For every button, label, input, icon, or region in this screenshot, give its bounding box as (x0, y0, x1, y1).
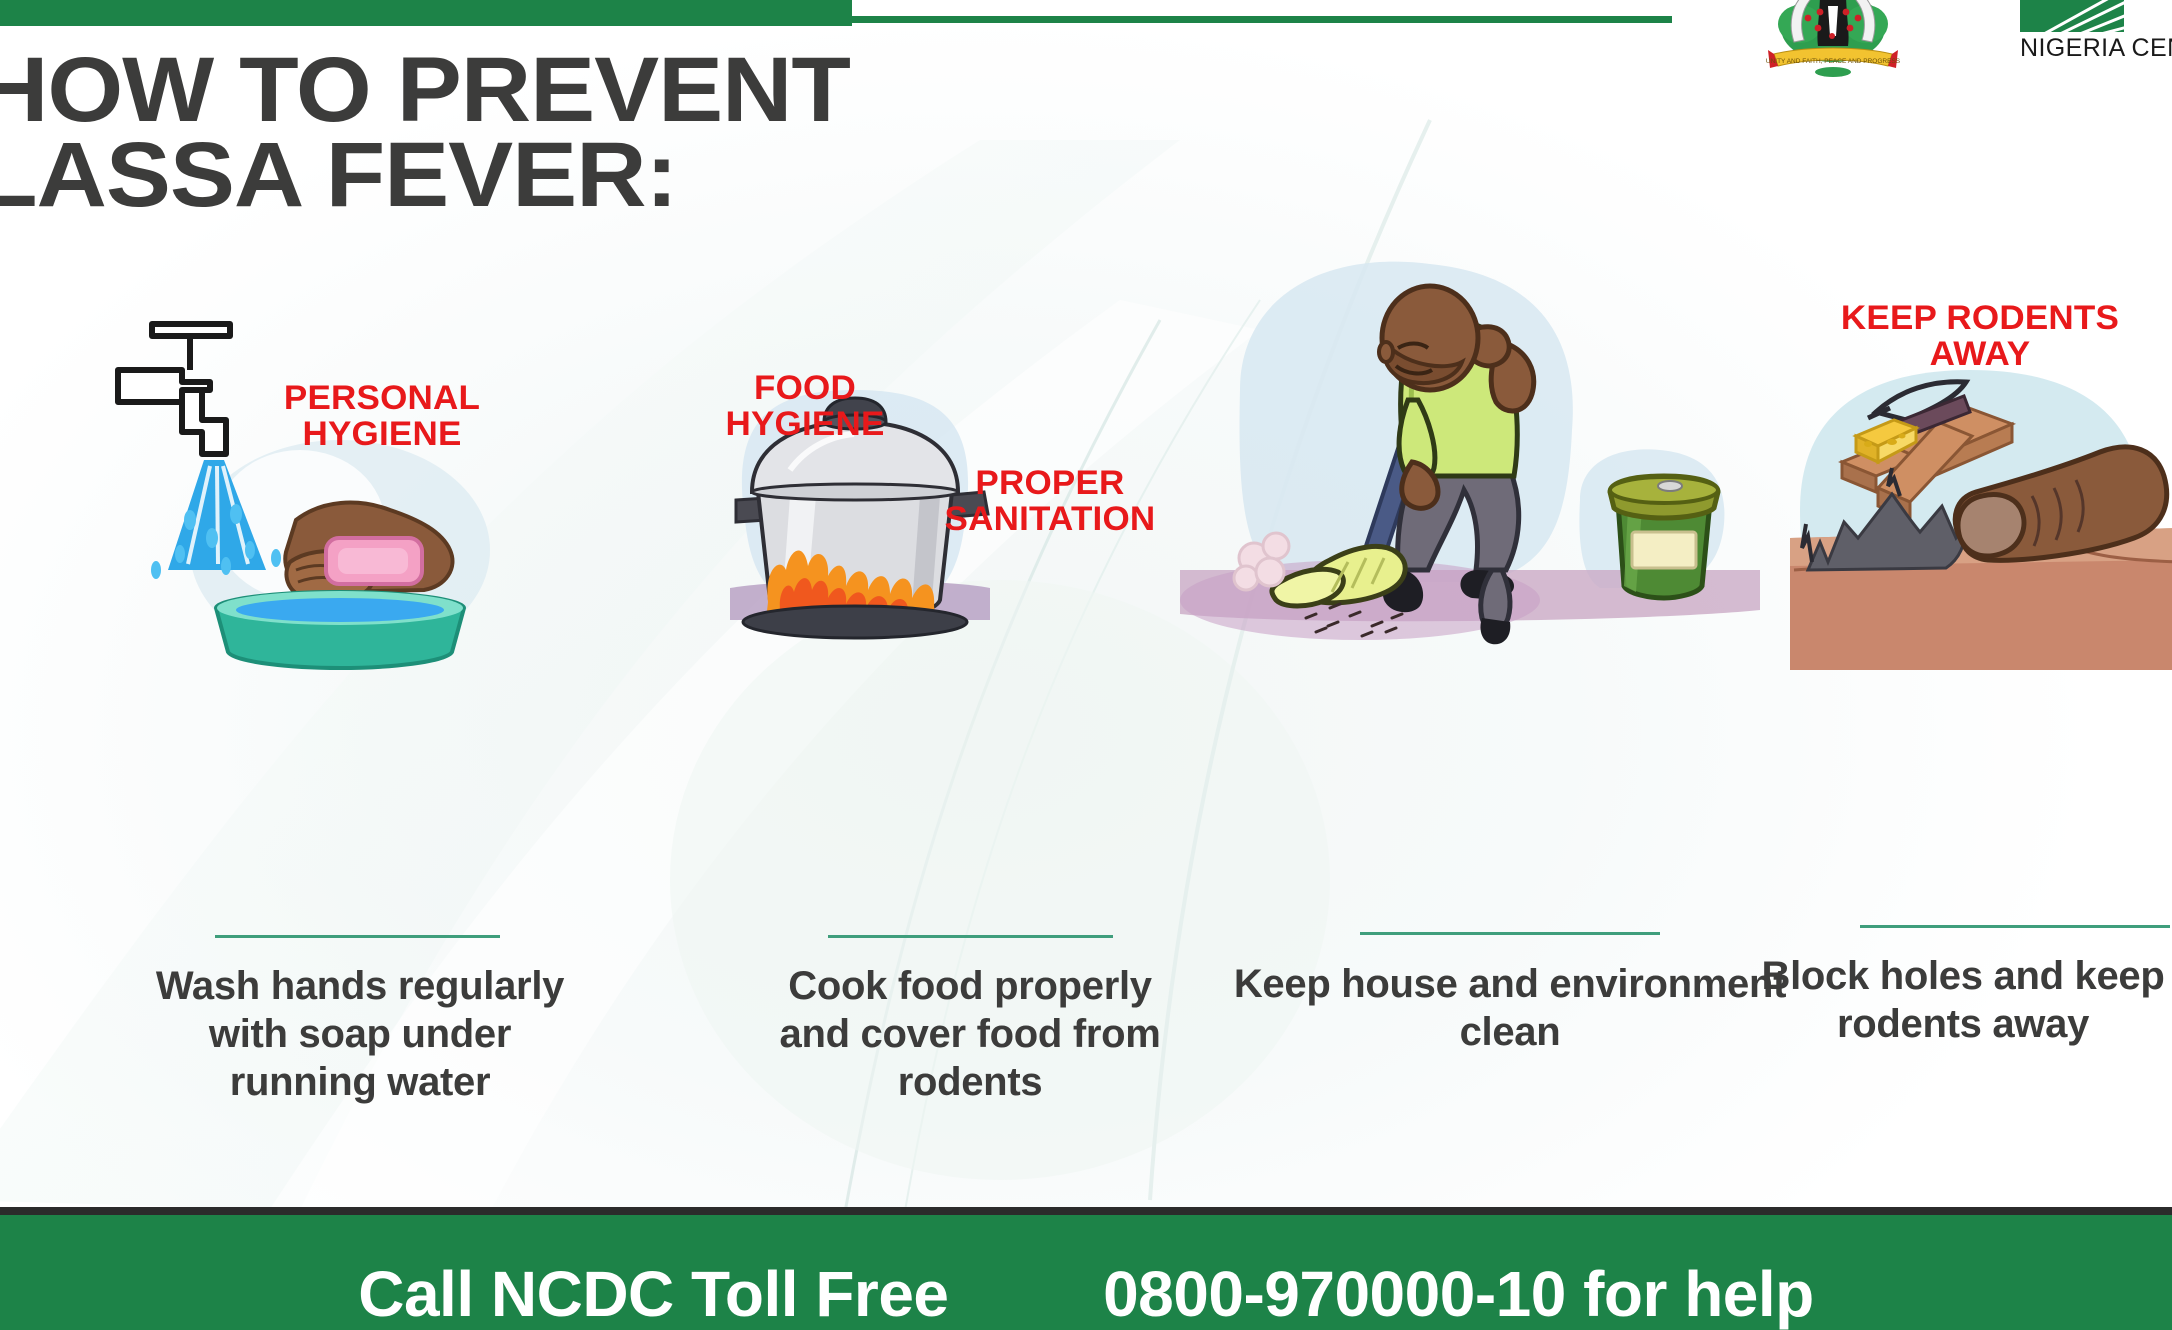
panel-1-caption: Wash hands regularly with soap under run… (150, 962, 570, 1106)
footer-call-text: Call NCDC Toll Free (358, 1258, 948, 1330)
footer-text: Call NCDC Toll Free 0800-970000-10 for h… (0, 1257, 2172, 1330)
top-bar-right-rule (852, 16, 1672, 23)
panel-3-label-line-2: SANITATION (945, 500, 1156, 538)
coat-of-arms-motto: UNITY AND FAITH, PEACE AND PROGRESS (1766, 58, 1901, 65)
panel-4-caption: Block holes and keep rodents away (1738, 952, 2172, 1048)
panel-3-caption: Keep house and environment clean (1220, 960, 1800, 1056)
ncdc-wordmark: NIGERIA CENTRE (2020, 34, 2172, 63)
handwashing-tap-icon (90, 270, 570, 670)
panel-keep-rodents-away: KEEP RODENTS AWAY Block holes and keep r… (1760, 270, 2172, 670)
top-bar-left-segment (0, 0, 852, 26)
panel-1-divider (215, 935, 500, 938)
panel-2-label: FOOD HYGIENE (584, 370, 1027, 442)
panel-3-label: PROPER SANITATION (844, 465, 1256, 537)
footer-bar: Call NCDC Toll Free 0800-970000-10 for h… (0, 1207, 2172, 1330)
panel-4-divider (1860, 925, 2170, 928)
panel-2-divider (828, 935, 1113, 938)
ncdc-logo: NIGERIA CENTRE (2020, 0, 2172, 60)
panel-3-label-line-1: PROPER (975, 464, 1124, 502)
panel-1-label-line-2: HYGIENE (302, 415, 461, 453)
panel-1-label: PERSONAL HYGIENE (248, 380, 516, 452)
panel-proper-sanitation: PROPER SANITATION Keep house and environ… (1180, 270, 1760, 690)
panel-2-label-line-1: FOOD (754, 369, 856, 407)
nigeria-coat-of-arms-icon: UNITY AND FAITH, PEACE AND PROGRESS (1758, 0, 1908, 69)
prevention-panels: PERSONAL HYGIENE Wash hands regularly wi… (0, 270, 2172, 1110)
panel-1-label-line-1: PERSONAL (284, 379, 480, 417)
panel-2-label-line-2: HYGIENE (725, 405, 884, 443)
title-line-2: LASSA FEVER: (0, 133, 850, 218)
panel-4-label-line-1: KEEP RODENTS (1841, 299, 2119, 337)
page-title: HOW TO PREVENT LASSA FEVER: (0, 48, 850, 217)
panel-personal-hygiene: PERSONAL HYGIENE Wash hands regularly wi… (90, 270, 570, 670)
panel-4-label-line-2: AWAY (1930, 335, 2031, 373)
footer-phone[interactable]: 0800-970000-10 for help (1103, 1258, 1814, 1330)
panel-3-divider (1360, 932, 1660, 935)
sweeping-man-icon (1180, 270, 1760, 690)
panel-4-label: KEEP RODENTS AWAY (1805, 300, 2155, 372)
ncdc-mark-icon (2020, 0, 2124, 32)
panel-2-caption: Cook food properly and cover food from r… (755, 962, 1185, 1106)
